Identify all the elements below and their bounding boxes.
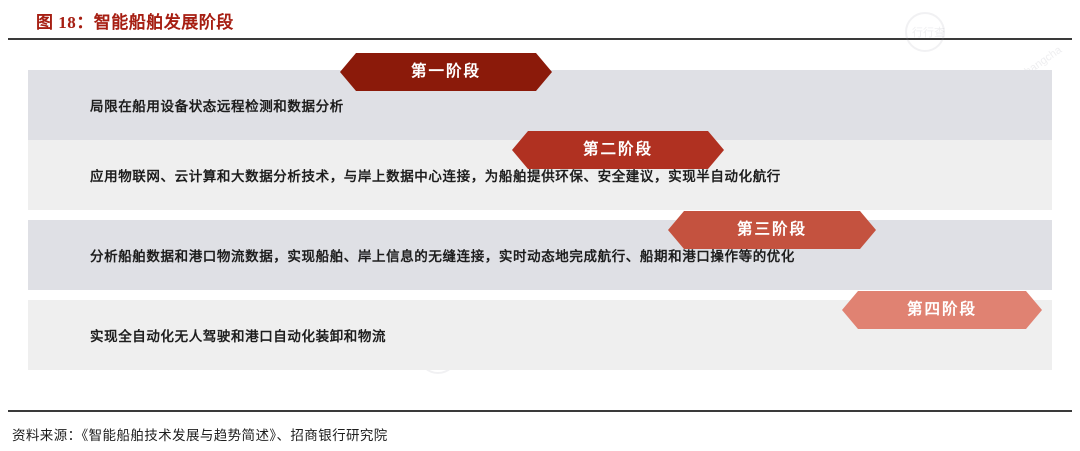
page-title: 图 18：智能船舶发展阶段 — [36, 8, 234, 33]
stage-label-2: 第二阶段 — [512, 131, 724, 169]
footer-divider — [8, 410, 1072, 412]
stage-label-1: 第一阶段 — [340, 53, 552, 91]
stage-description-1: 局限在船用设备状态远程检测和数据分析 — [90, 95, 344, 115]
stage-band-3: 分析船舶数据和港口物流数据，实现船舶、岸上信息的无缝连接，实时动态地完成航行、船… — [28, 220, 1052, 290]
stage-label-4: 第四阶段 — [842, 291, 1042, 329]
stage-label-3: 第三阶段 — [668, 211, 876, 249]
source-note: 资料来源：《智能船舶技术发展与趋势简述》、招商银行研究院 — [12, 424, 388, 444]
figure-header: 图 18：智能船舶发展阶段 — [0, 0, 1080, 42]
header-divider — [8, 38, 1072, 40]
stage-diagram: 行行查 行行查 行行查 hanghangcha hanghangcha 局限在船… — [0, 42, 1080, 404]
stage-description-4: 实现全自动化无人驾驶和港口自动化装卸和物流 — [90, 325, 386, 345]
